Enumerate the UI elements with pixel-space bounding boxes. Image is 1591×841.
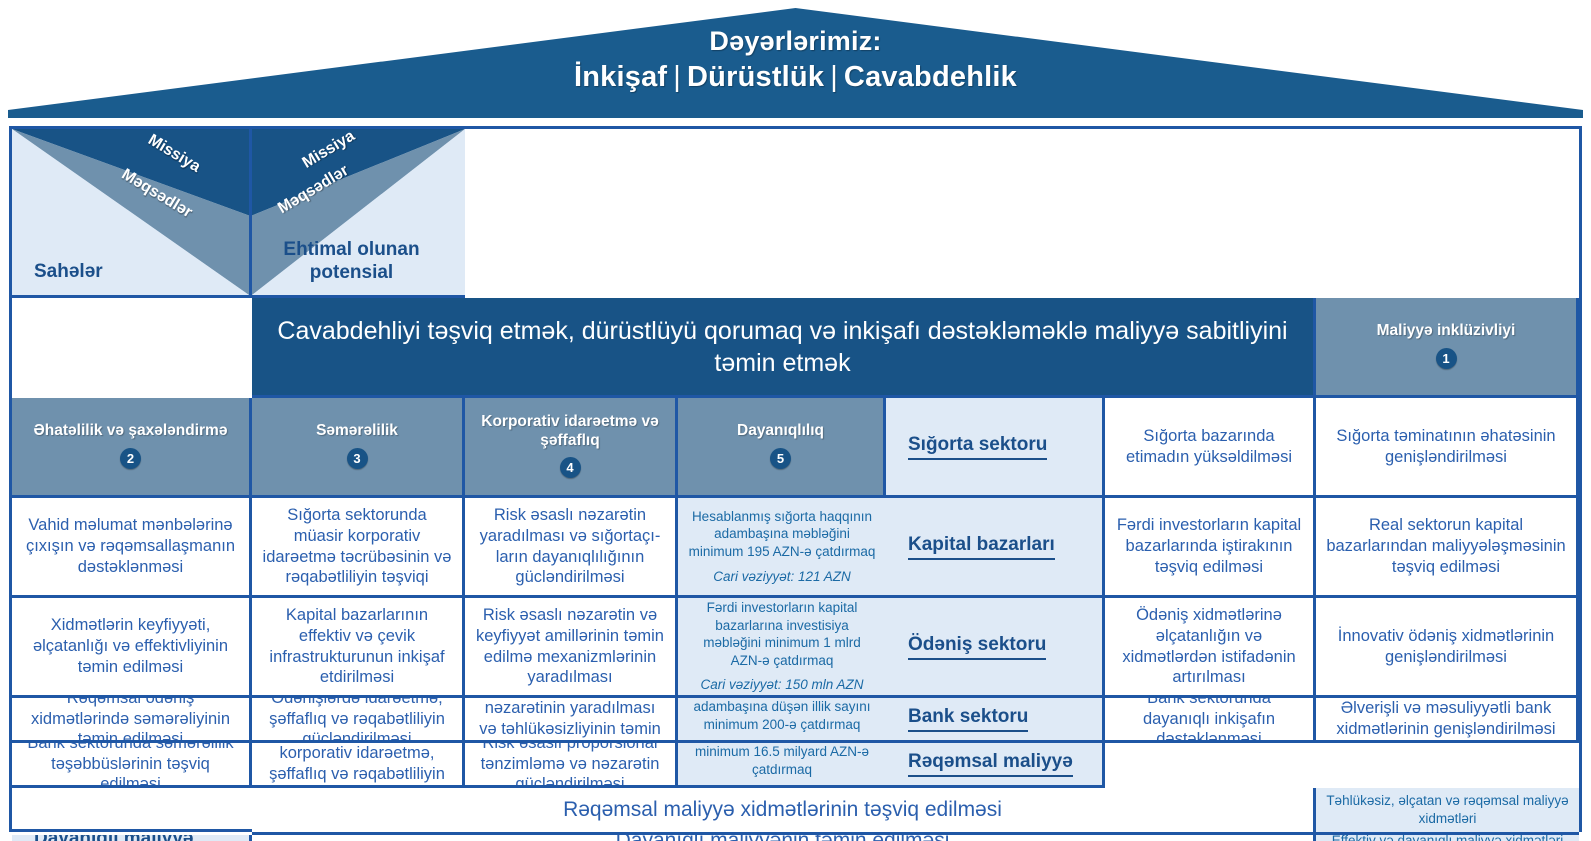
strategy-matrix: Missiya Məqsədlər Sahələr Cavabdehliyi t… [9,126,1582,832]
potential-reqemsal: Təhlükəsiz, əlçatan və rəqəmsal maliyyə … [1316,788,1579,835]
goal-number-badge-4: 4 [560,457,581,478]
goal-title-4: Korporativ idarəetmə və şəffaflıq [471,413,669,450]
goal-header-2[interactable]: Əhatəlilik və şaxələndirmə 2 [12,398,252,498]
potential-goal-text: Fərdi investorların kapital bazarlarına … [687,599,877,669]
corner-legend-right: Missiya Məqsədlər Ehtimal olunan potensi… [252,129,465,298]
potential-goal-text: Hesablanmış sığorta haqqının adambaşına … [687,508,877,561]
wide-cell-reqemsal: Rəqəmsal maliyyə xidmətlərinin təşviq ed… [252,788,1316,835]
goal-number-badge-2: 2 [120,448,141,469]
goal-header-4[interactable]: Korporativ idarəetmə və şəffaflıq 4 [465,398,678,498]
goal-header-1[interactable]: Maliyyə inklüzivliyi 1 [1316,298,1579,398]
goal-title-1: Maliyyə inklüzivliyi [1377,322,1516,340]
roof-shape [0,0,1591,122]
cell-bank-3: Bank sektorunda səmərəlilik təşəbbüsləri… [12,743,252,788]
matrix-grid: Missiya Məqsədlər Sahələr Cavabdehliyi t… [12,129,1579,829]
potential-kapital: Fərdi investorların kapital bazarlarına … [678,598,886,698]
cell-odenis-5: Ödənişlərin risk əsaslı nəzarətinin yara… [465,698,678,743]
potential-goal-text: Biznes kreditlərinin məbləğinin minimum … [687,743,877,778]
row-label-bank[interactable]: Bank sektoru [886,698,1105,743]
potential-odenis: Nağdsız əməliyyatların adambaşına düşən … [678,698,886,743]
cell-odenis-4: Ödənişlərdə idarəetmə, şəffaflıq və rəqa… [252,698,465,743]
cell-sigorta-3: Vahid məlumat mənbələrinə çıxışın və rəq… [12,498,252,598]
cell-odenis-3: Rəqəmsal ödəniş xidmətlərində səmərəliyi… [12,698,252,743]
row-label-reqemsal[interactable]: Rəqəmsal maliyyə [886,743,1105,788]
cell-odenis-2: İnnovativ ödəniş xidmətlərinin genişlənd… [1316,598,1579,698]
mission-statement: Cavabdehliyi təşviq etmək, dürüstlüyü qo… [252,298,1316,398]
row-label-text: Rəqəmsal maliyyə [908,751,1073,777]
potential-goal-text: Nağdsız əməliyyatların adambaşına düşən … [687,698,877,733]
potential-dayaniqli: Effektiv və dayanıqlı maliyyə xidmətləri [1316,835,1579,841]
potential-goal-text: Effektiv və dayanıqlı maliyyə xidmətləri [1332,835,1564,841]
cell-bank-2: Əlverişli və məsuliyyətli bank xidmətlər… [1316,698,1579,743]
potential-sigorta: Hesablanmış sığorta haqqının adambaşına … [678,498,886,598]
strategy-pyramid-infographic: Dəyərlərimiz: İnkişaf|Dürüstlük|Cavabdeh… [0,0,1591,841]
potential-column-header: Ehtimal olunan potensial [252,239,451,285]
potential-bank: Biznes kreditlərinin məbləğinin minimum … [678,743,886,788]
cell-kapital-4: Kapital bazarlarının effektiv və çevik i… [252,598,465,698]
cell-bank-1: Bank sektorunda dayanıqlı inkişafın dəst… [1105,698,1316,743]
cell-odenis-1: Ödəniş xidmətlərinə əlçatanlığın və xidm… [1105,598,1316,698]
values-roof: Dəyərlərimiz: İnkişaf|Dürüstlük|Cavabdeh… [0,0,1591,122]
cell-kapital-5: Risk əsaslı nəzarətin və keyfiyyət amill… [465,598,678,698]
potential-current-text: Cari vəziyyət: 121 AZN [713,568,851,586]
cell-kapital-2: Real sektorun kapital bazarlarından mali… [1316,498,1579,598]
cell-bank-5: Risk əsaslı proporsional tənzimləmə və n… [465,743,678,788]
goal-number-badge-5: 5 [770,448,791,469]
potential-current-text: Cari vəziyyət: 150 mln AZN [700,676,863,694]
wide-cell-dayaniqli: Dayanıqlı maliyyənin təmin edilməsi [252,835,1316,841]
corner-legend-left: Missiya Məqsədlər Sahələr [12,129,252,298]
row-label-text: Dayanıqlı maliyyə [34,835,193,841]
row-label-sigorta[interactable]: Sığorta sektoru [886,398,1105,498]
row-label-text: Bank sektoru [908,706,1028,732]
row-label-text: Ödəniş sektoru [908,634,1046,660]
goal-number-badge-1: 1 [1436,348,1457,369]
row-label-text: Kapital bazarları [908,534,1055,560]
cell-sigorta-4: Sığorta sektorunda müasir korporativ ida… [252,498,465,598]
row-label-text: Sığorta sektoru [908,434,1047,460]
goal-title-5: Dayanıqlılıq [737,422,824,440]
row-label-kapital[interactable]: Kapital bazarları [886,498,1105,598]
goal-header-3[interactable]: Səmərəlilik 3 [252,398,465,498]
corner-areas-label: Sahələr [34,261,103,283]
cell-sigorta-2: Sığorta təminatının əhatəsinin genişlənd… [1316,398,1579,498]
row-label-odenis[interactable]: Ödəniş sektoru [886,598,1105,698]
cell-sigorta-1: Sığorta bazarında etimadın yüksəldilməsi [1105,398,1316,498]
goal-number-badge-3: 3 [347,448,368,469]
row-label-dayaniqli[interactable]: Dayanıqlı maliyyə [12,835,252,841]
goal-header-5[interactable]: Dayanıqlılıq 5 [678,398,886,498]
cell-bank-4: Bank sektorunda korporativ idarəetmə, şə… [252,743,465,788]
cell-kapital-3: Xidmətlərin keyfiyyəti, əlçatanlığı və e… [12,598,252,698]
cell-kapital-1: Fərdi investorların kapital bazarlarında… [1105,498,1316,598]
goal-title-2: Əhatəlilik və şaxələndirmə [34,422,228,440]
goal-title-3: Səmərəlilik [316,422,398,440]
potential-goal-text: Təhlükəsiz, əlçatan və rəqəmsal maliyyə … [1325,792,1570,827]
cell-sigorta-5: Risk əsaslı nəzarətin yaradılması və sığ… [465,498,678,598]
